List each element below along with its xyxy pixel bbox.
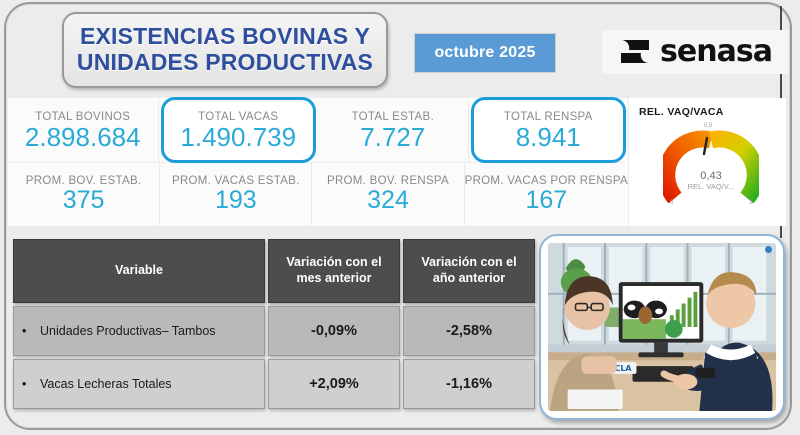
kpi-grid: TOTAL BOVINOS 2.898.684 TOTAL VACAS 1.49… [8, 98, 628, 226]
page-title-line-2: UNIDADES PRODUCTIVAS [77, 50, 373, 76]
gauge-tick-mid: 0,5 [704, 123, 712, 129]
kpi-value: 167 [525, 188, 567, 213]
row-year-variation: -1,16% [403, 359, 535, 409]
dashboard-page: EXISTENCIAS BOVINAS Y UNIDADES PRODUCTIV… [0, 0, 800, 435]
kpi-prom-vacas-renspa[interactable]: PROM. VACAS POR RENSPA 167 [465, 162, 628, 226]
header: EXISTENCIAS BOVINAS Y UNIDADES PRODUCTIV… [14, 8, 774, 90]
kpi-total-bovinos[interactable]: TOTAL BOVINOS 2.898.684 [8, 98, 159, 162]
period-badge[interactable]: octubre 2025 [414, 33, 556, 73]
kpi-value: 7.727 [360, 124, 425, 150]
brand-logo: senasa [602, 30, 788, 74]
table-row[interactable]: •Vacas Lecheras Totales +2,09% -1,16% [13, 359, 535, 409]
kpi-value: 8.941 [516, 124, 581, 150]
kpi-value: 2.898.684 [25, 124, 141, 150]
kpi-label: TOTAL VACAS [198, 111, 278, 123]
row-variable-label: Vacas Lecheras Totales [40, 377, 172, 391]
kpi-value: 324 [367, 188, 409, 213]
gauge-title: REL. VAQ/VACA [639, 106, 724, 118]
page-title-line-1: EXISTENCIAS BOVINAS Y [77, 24, 373, 50]
header-line: año anterior [408, 271, 530, 287]
gauge-tick-min: 0 [670, 200, 673, 206]
table-header-month-variation[interactable]: Variación con el mes anterior [268, 239, 400, 303]
brand-name: senasa [660, 37, 772, 67]
table-row[interactable]: •Unidades Productivas– Tambos -0,09% -2,… [13, 306, 535, 356]
kpi-total-vacas[interactable]: TOTAL VACAS 1.490.739 [161, 97, 317, 163]
photo-illustration-icon: OCLA [548, 243, 776, 411]
period-label: octubre 2025 [434, 44, 535, 62]
header-line: mes anterior [273, 271, 395, 287]
variation-table: Variable Variación con el mes anterior V… [10, 236, 538, 412]
table-header-variable[interactable]: Variable [13, 239, 265, 303]
row-month-variation: -0,09% [268, 306, 400, 356]
photo-corner-dot-icon [765, 246, 772, 253]
row-variable-cell: •Vacas Lecheras Totales [13, 359, 265, 409]
table-header-year-variation[interactable]: Variación con el año anterior [403, 239, 535, 303]
senasa-logo-icon [618, 36, 652, 68]
row-variable-cell: •Unidades Productivas– Tambos [13, 306, 265, 356]
page-title: EXISTENCIAS BOVINAS Y UNIDADES PRODUCTIV… [77, 24, 373, 76]
kpi-prom-vacas-estab[interactable]: PROM. VACAS ESTAB. 193 [160, 162, 312, 226]
variation-table-wrapper: Variable Variación con el mes anterior V… [10, 236, 538, 412]
header-line: Variación con el [273, 255, 395, 271]
gauge-arc-icon [663, 124, 759, 210]
kpi-value: 375 [63, 188, 105, 213]
kpi-prom-bov-renspa[interactable]: PROM. BOV. RENSPA 324 [312, 162, 464, 226]
kpi-prom-bov-estab[interactable]: PROM. BOV. ESTAB. 375 [8, 162, 160, 226]
row-year-variation: -2,58% [403, 306, 535, 356]
row-variable-label: Unidades Productivas– Tambos [40, 324, 216, 338]
office-meeting-photo: OCLA [548, 243, 776, 411]
photo-frame: OCLA [539, 234, 785, 420]
kpi-label: TOTAL RENSPA [504, 111, 593, 123]
row-month-variation: +2,09% [268, 359, 400, 409]
kpi-band: TOTAL BOVINOS 2.898.684 TOTAL VACAS 1.49… [8, 98, 786, 226]
page-title-card: EXISTENCIAS BOVINAS Y UNIDADES PRODUCTIV… [62, 12, 388, 88]
table-header-row: Variable Variación con el mes anterior V… [13, 239, 535, 303]
kpi-label: TOTAL ESTAB. [352, 111, 434, 123]
kpi-value: 193 [215, 188, 257, 213]
kpi-total-renspa[interactable]: TOTAL RENSPA 8.941 [471, 97, 627, 163]
bullet-icon: • [22, 324, 40, 338]
kpi-label: TOTAL BOVINOS [35, 111, 130, 123]
kpi-value: 1.490.739 [180, 124, 296, 150]
gauge-tick-max: 1 [749, 200, 752, 206]
kpi-row-averages: PROM. BOV. ESTAB. 375 PROM. VACAS ESTAB.… [8, 162, 628, 226]
kpi-row-totals: TOTAL BOVINOS 2.898.684 TOTAL VACAS 1.49… [8, 98, 628, 162]
header-line: Variable [18, 263, 260, 279]
gauge-panel: REL. VAQ/VACA [628, 98, 786, 226]
bullet-icon: • [22, 377, 40, 391]
kpi-total-estab[interactable]: TOTAL ESTAB. 7.727 [318, 98, 469, 162]
gauge-chart[interactable]: 0,43 REL. VAQ/V... 0 0,5 1 [663, 124, 759, 215]
header-line: Variación con el [408, 255, 530, 271]
